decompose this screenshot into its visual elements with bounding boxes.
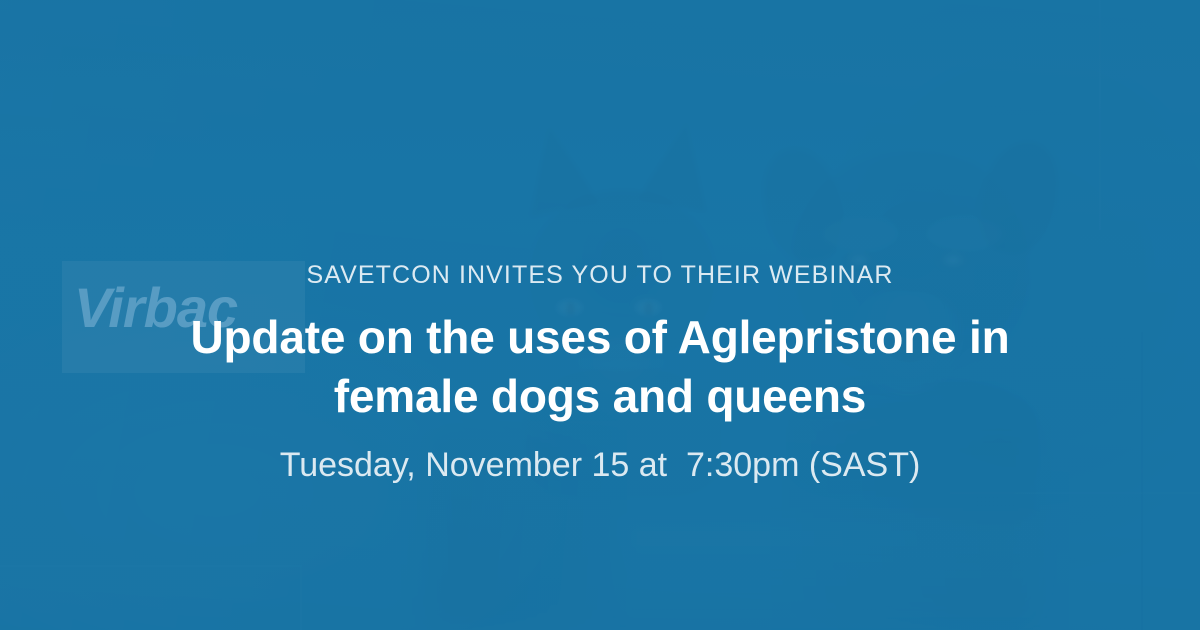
webinar-title: Update on the uses of Aglepristone in fe… bbox=[100, 308, 1100, 426]
webinar-eyebrow-text: SAVETCON INVITES YOU TO THEIR WEBINAR bbox=[0, 260, 1200, 290]
webinar-promo-banner: Virbac SAVETCON INVITES YOU TO THEIR WEB… bbox=[0, 0, 1200, 630]
webinar-datetime: Tuesday, November 15 at 7:30pm (SAST) bbox=[0, 444, 1200, 486]
webinar-title-line-2: female dogs and queens bbox=[100, 367, 1100, 426]
webinar-title-line-1: Update on the uses of Aglepristone in bbox=[100, 308, 1100, 367]
promo-text-block: SAVETCON INVITES YOU TO THEIR WEBINAR Up… bbox=[0, 0, 1200, 630]
